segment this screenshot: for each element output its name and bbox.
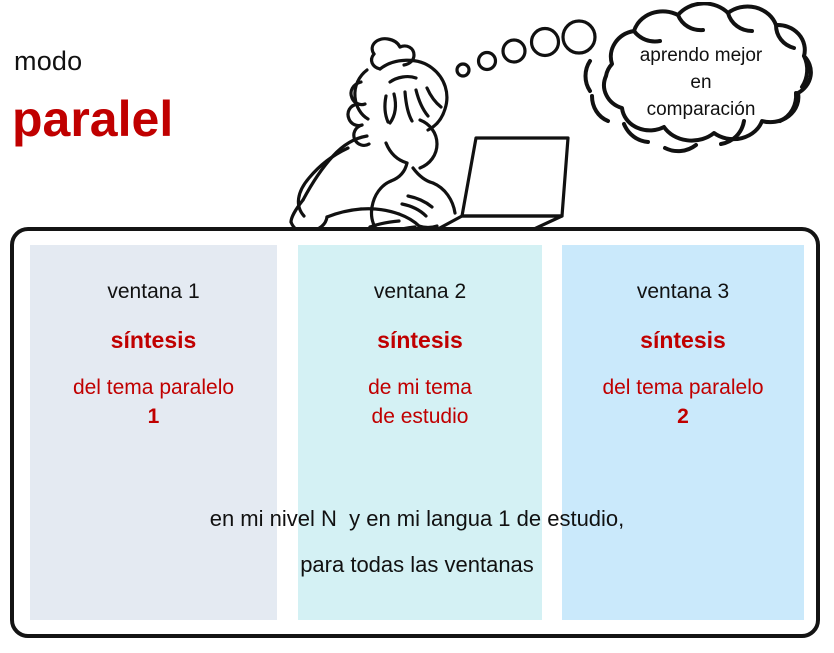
column-3-heading: ventana 3 <box>562 281 804 302</box>
window-column-2[interactable]: ventana 2 síntesis de mi tema de estudio <box>298 245 542 620</box>
windows-columns: ventana 1 síntesis del tema paralelo 1 v… <box>30 245 804 620</box>
thought-cloud-text: aprendo mejor en comparación <box>596 42 806 123</box>
column-3-description: del tema paralelo 2 <box>562 373 804 431</box>
header-area: modo paralel <box>0 0 834 228</box>
column-2-description: de mi tema de estudio <box>298 373 542 431</box>
column-2-desc-line1: de mi tema <box>298 373 542 402</box>
column-3-desc-line1: del tema paralelo <box>562 373 804 402</box>
thought-dot-4 <box>532 29 559 56</box>
column-3-sintesis: síntesis <box>562 329 804 352</box>
column-1-sintesis: síntesis <box>30 329 277 352</box>
cloud-line-2: en <box>596 69 806 96</box>
column-1-heading: ventana 1 <box>30 281 277 302</box>
column-1-description: del tema paralelo 1 <box>30 373 277 431</box>
window-column-1[interactable]: ventana 1 síntesis del tema paralelo 1 <box>30 245 277 620</box>
column-2-desc-line2: de estudio <box>298 402 542 431</box>
cloud-line-3: comparación <box>596 96 806 123</box>
thought-dot-3 <box>503 40 525 62</box>
thought-dot-1 <box>457 64 469 76</box>
thought-dot-2 <box>479 53 496 70</box>
column-1-desc-line1: del tema paralelo <box>30 373 277 402</box>
column-2-sintesis: síntesis <box>298 329 542 352</box>
window-column-3[interactable]: ventana 3 síntesis del tema paralelo 2 <box>562 245 804 620</box>
column-2-heading: ventana 2 <box>298 281 542 302</box>
cloud-line-1: aprendo mejor <box>596 42 806 69</box>
mode-label: modo <box>14 48 82 75</box>
column-3-desc-line2: 2 <box>562 402 804 431</box>
page-title: paralel <box>12 94 173 144</box>
column-1-desc-line2: 1 <box>30 402 277 431</box>
